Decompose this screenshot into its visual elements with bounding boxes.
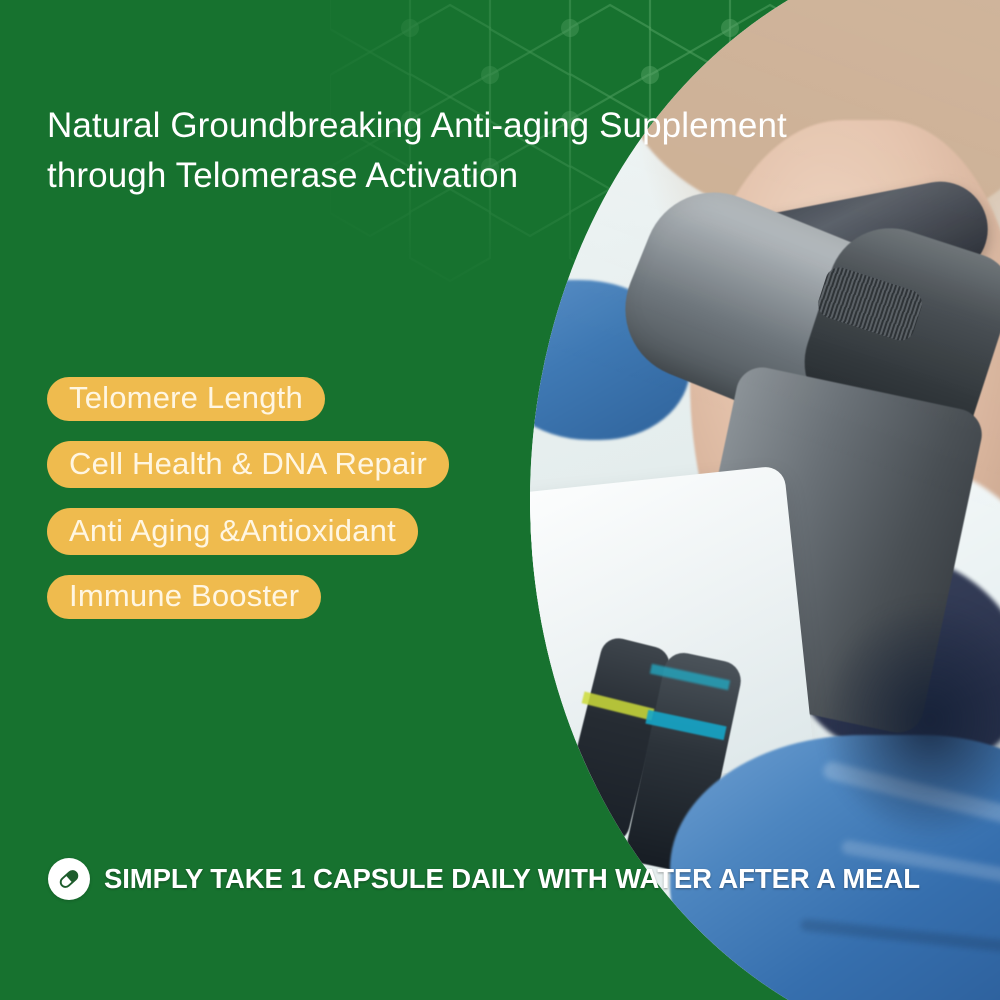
benefit-pill-list: Telomere Length Cell Health & DNA Repair…	[47, 377, 449, 639]
capsule-icon	[48, 858, 90, 900]
benefit-pill-telomere-length: Telomere Length	[47, 377, 325, 421]
benefit-pill-cell-health-dna-repair: Cell Health & DNA Repair	[47, 441, 449, 488]
page-title: Natural Groundbreaking Anti-aging Supple…	[47, 101, 827, 200]
product-banner: Natural Groundbreaking Anti-aging Supple…	[0, 0, 1000, 1000]
headline-line-2: through Telomerase Activation	[47, 151, 827, 201]
usage-instruction: SIMPLY TAKE 1 CAPSULE DAILY WITH WATER A…	[48, 858, 920, 900]
headline-line-1: Natural Groundbreaking Anti-aging Supple…	[47, 101, 827, 151]
usage-instruction-text: SIMPLY TAKE 1 CAPSULE DAILY WITH WATER A…	[104, 863, 920, 895]
benefit-pill-immune-booster: Immune Booster	[47, 575, 321, 619]
benefit-pill-anti-aging-antioxidant: Anti Aging &Antioxidant	[47, 508, 418, 555]
